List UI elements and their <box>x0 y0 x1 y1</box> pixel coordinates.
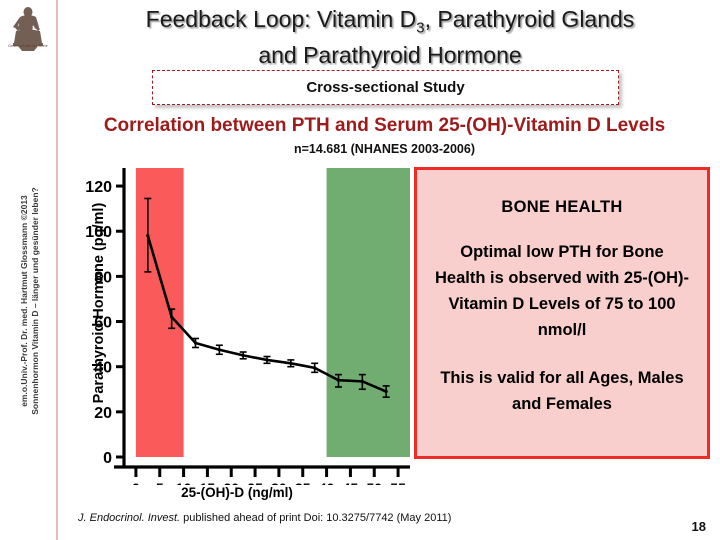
data-point <box>146 234 149 237</box>
bone-health-heading: BONE HEALTH <box>433 198 691 217</box>
citation: J. Endocrinol. Invest. published ahead o… <box>78 512 451 524</box>
study-type-callout: Cross-sectional Study <box>152 70 619 105</box>
x-tick-label: 5 <box>156 480 164 485</box>
citation-detail: published ahead of print Doi: 10.3275/77… <box>180 512 451 524</box>
data-point <box>194 341 197 344</box>
data-point <box>265 358 268 361</box>
deficient-range <box>136 168 184 457</box>
x-tick-label: 35 <box>295 480 311 485</box>
data-point <box>170 315 173 318</box>
x-tick-label: 10 <box>176 480 192 485</box>
title-line1-post: , Parathyroid Glands <box>425 6 635 32</box>
page-number: 18 <box>692 519 706 534</box>
page-title: Feedback Loop: Vitamin D3, Parathyroid G… <box>70 6 710 69</box>
x-tick-label: 50 <box>366 480 382 485</box>
title-line1-pre: Feedback Loop: Vitamin D <box>146 6 417 32</box>
optimal-range <box>327 168 410 457</box>
y-tick-label: 100 <box>85 224 112 241</box>
y-tick-label: 20 <box>94 405 112 422</box>
bone-health-note: This is valid for all Ages, Males and Fe… <box>433 365 691 417</box>
bone-health-panel: BONE HEALTH Optimal low PTH for Bone Hea… <box>414 167 710 459</box>
x-tick-label: 20 <box>223 480 239 485</box>
sidebar-divider <box>56 0 58 540</box>
x-axis-label: 25-(OH)-D (ng/ml) <box>62 485 412 500</box>
data-point <box>289 362 292 365</box>
chart-subtitle: n=14.681 (NHANES 2003-2006) <box>52 142 717 156</box>
x-tick-label: 55 <box>390 480 406 485</box>
logo-caption: Gesellschaft der Ärzte <box>3 44 53 48</box>
title-line2: and Parathyroid Hormone <box>258 42 521 68</box>
x-tick-label: 45 <box>343 480 359 485</box>
sidebar-attribution-line2: Sonnenhormon Vitamin D – länger und gesü… <box>30 121 41 481</box>
bone-health-body: Optimal low PTH for Bone Health is obser… <box>433 239 691 343</box>
y-tick-label: 60 <box>94 315 112 332</box>
x-tick-label: 15 <box>200 480 216 485</box>
data-point <box>313 366 316 369</box>
chart-title: Correlation between PTH and Serum 25-(OH… <box>52 115 717 137</box>
sidebar-attribution-line1: em.o.Univ.-Prof. Dr. med. Hartmut Glossm… <box>19 121 30 481</box>
title-subscript: 3 <box>416 20 424 37</box>
x-tick-label: 25 <box>247 480 263 485</box>
data-point <box>361 380 364 383</box>
y-tick-label: 120 <box>85 179 112 196</box>
plot-area: 0204060801001200510152025303540455055 <box>62 160 412 485</box>
y-tick-label: 40 <box>94 360 112 377</box>
title-line1: Feedback Loop: Vitamin D3, Parathyroid G… <box>146 6 635 32</box>
data-point <box>242 354 245 357</box>
x-tick-label: 40 <box>319 480 335 485</box>
data-point <box>337 379 340 382</box>
pth-vitamin-d-chart: Parathyroid Hormone (pg/ml) 25-(OH)-D (n… <box>62 160 412 495</box>
sidebar-attribution: em.o.Univ.-Prof. Dr. med. Hartmut Glossm… <box>19 121 41 481</box>
y-tick-label: 0 <box>103 450 112 467</box>
data-point <box>385 390 388 393</box>
x-tick-label: 30 <box>271 480 287 485</box>
y-tick-label: 80 <box>94 269 112 286</box>
data-point <box>218 348 221 351</box>
study-type-label: Cross-sectional Study <box>306 79 464 96</box>
slide-canvas: Gesellschaft der Ärzte em.o.Univ.-Prof. … <box>0 0 720 540</box>
x-tick-label: 0 <box>132 480 140 485</box>
citation-journal: J. Endocrinol. Invest. <box>78 512 180 524</box>
